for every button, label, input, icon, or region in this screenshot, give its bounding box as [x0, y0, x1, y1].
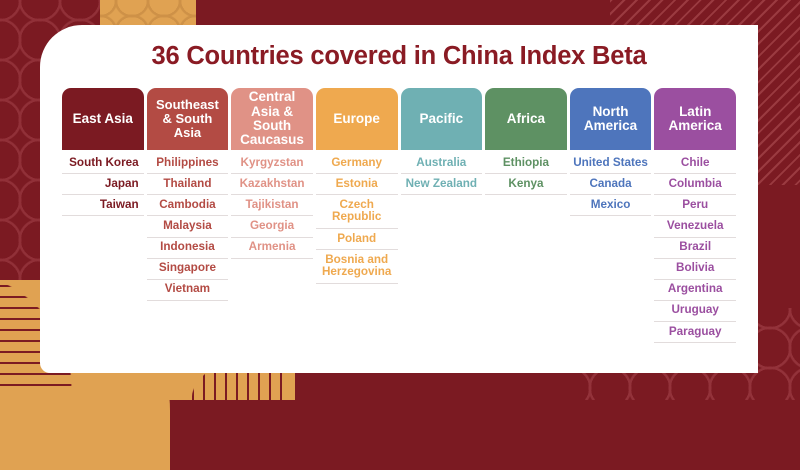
- region-column: North AmericaUnited StatesCanadaMexico: [570, 88, 652, 216]
- country-cell: Mexico: [570, 195, 652, 216]
- country-cell: Brazil: [654, 238, 736, 259]
- country-cell: Poland: [316, 229, 398, 250]
- country-cell: Bolivia: [654, 259, 736, 280]
- country-list: ChileColumbiaPeruVenezuelaBrazilBoliviaA…: [654, 150, 736, 343]
- region-header-southeast-south-asia[interactable]: Southeast & South Asia: [147, 88, 229, 150]
- country-cell: Canada: [570, 174, 652, 195]
- country-list: KyrgyzstanKazakhstanTajikistanGeorgiaArm…: [231, 150, 313, 259]
- region-header-europe[interactable]: Europe: [316, 88, 398, 150]
- country-cell: Peru: [654, 195, 736, 216]
- country-cell: Kenya: [485, 174, 567, 195]
- country-cell: Czech Republic: [316, 195, 398, 229]
- country-cell: Kazakhstan: [231, 174, 313, 195]
- country-cell: United States: [570, 153, 652, 174]
- country-cell: Venezuela: [654, 216, 736, 237]
- country-list: United StatesCanadaMexico: [570, 150, 652, 216]
- country-cell: Ethiopia: [485, 153, 567, 174]
- country-cell: New Zealand: [401, 174, 483, 195]
- region-column: AfricaEthiopiaKenya: [485, 88, 567, 195]
- country-cell: Philippines: [147, 153, 229, 174]
- region-header-central-asia-south-caucasus[interactable]: Central Asia & South Caucasus: [231, 88, 313, 150]
- country-cell: Japan: [62, 174, 144, 195]
- country-cell: Chile: [654, 153, 736, 174]
- country-cell: Vietnam: [147, 280, 229, 301]
- region-header-africa[interactable]: Africa: [485, 88, 567, 150]
- country-cell: Paraguay: [654, 322, 736, 343]
- country-cell: Malaysia: [147, 216, 229, 237]
- country-list: PhilippinesThailandCambodiaMalaysiaIndon…: [147, 150, 229, 301]
- region-header-east-asia[interactable]: East Asia: [62, 88, 144, 150]
- country-list: GermanyEstoniaCzech RepublicPolandBosnia…: [316, 150, 398, 284]
- country-list: EthiopiaKenya: [485, 150, 567, 195]
- country-cell: South Korea: [62, 153, 144, 174]
- country-cell: Cambodia: [147, 195, 229, 216]
- region-column: East AsiaSouth KoreaJapanTaiwan: [62, 88, 144, 216]
- country-cell: Armenia: [231, 238, 313, 259]
- country-cell: Indonesia: [147, 238, 229, 259]
- country-cell: Australia: [401, 153, 483, 174]
- region-column: Latin AmericaChileColumbiaPeruVenezuelaB…: [654, 88, 736, 343]
- region-column: Southeast & South AsiaPhilippinesThailan…: [147, 88, 229, 301]
- country-cell: Georgia: [231, 216, 313, 237]
- country-list: South KoreaJapanTaiwan: [62, 150, 144, 216]
- content-card: 36 Countries covered in China Index Beta…: [40, 25, 758, 373]
- region-header-latin-america[interactable]: Latin America: [654, 88, 736, 150]
- region-column: Central Asia & South CaucasusKyrgyzstanK…: [231, 88, 313, 259]
- country-cell: Uruguay: [654, 301, 736, 322]
- page-title: 36 Countries covered in China Index Beta: [40, 42, 758, 71]
- region-column: EuropeGermanyEstoniaCzech RepublicPoland…: [316, 88, 398, 284]
- country-cell: Thailand: [147, 174, 229, 195]
- country-cell: Argentina: [654, 280, 736, 301]
- country-cell: Estonia: [316, 174, 398, 195]
- country-list: AustraliaNew Zealand: [401, 150, 483, 195]
- country-cell: Columbia: [654, 174, 736, 195]
- region-header-north-america[interactable]: North America: [570, 88, 652, 150]
- country-cell: Germany: [316, 153, 398, 174]
- country-cell: Kyrgyzstan: [231, 153, 313, 174]
- country-cell: Singapore: [147, 259, 229, 280]
- country-cell: Tajikistan: [231, 195, 313, 216]
- regions-table: East AsiaSouth KoreaJapanTaiwanSoutheast…: [40, 88, 758, 343]
- country-cell: Taiwan: [62, 195, 144, 216]
- region-column: PacificAustraliaNew Zealand: [401, 88, 483, 195]
- country-cell: Bosnia and Herzegovina: [316, 250, 398, 284]
- region-header-pacific[interactable]: Pacific: [401, 88, 483, 150]
